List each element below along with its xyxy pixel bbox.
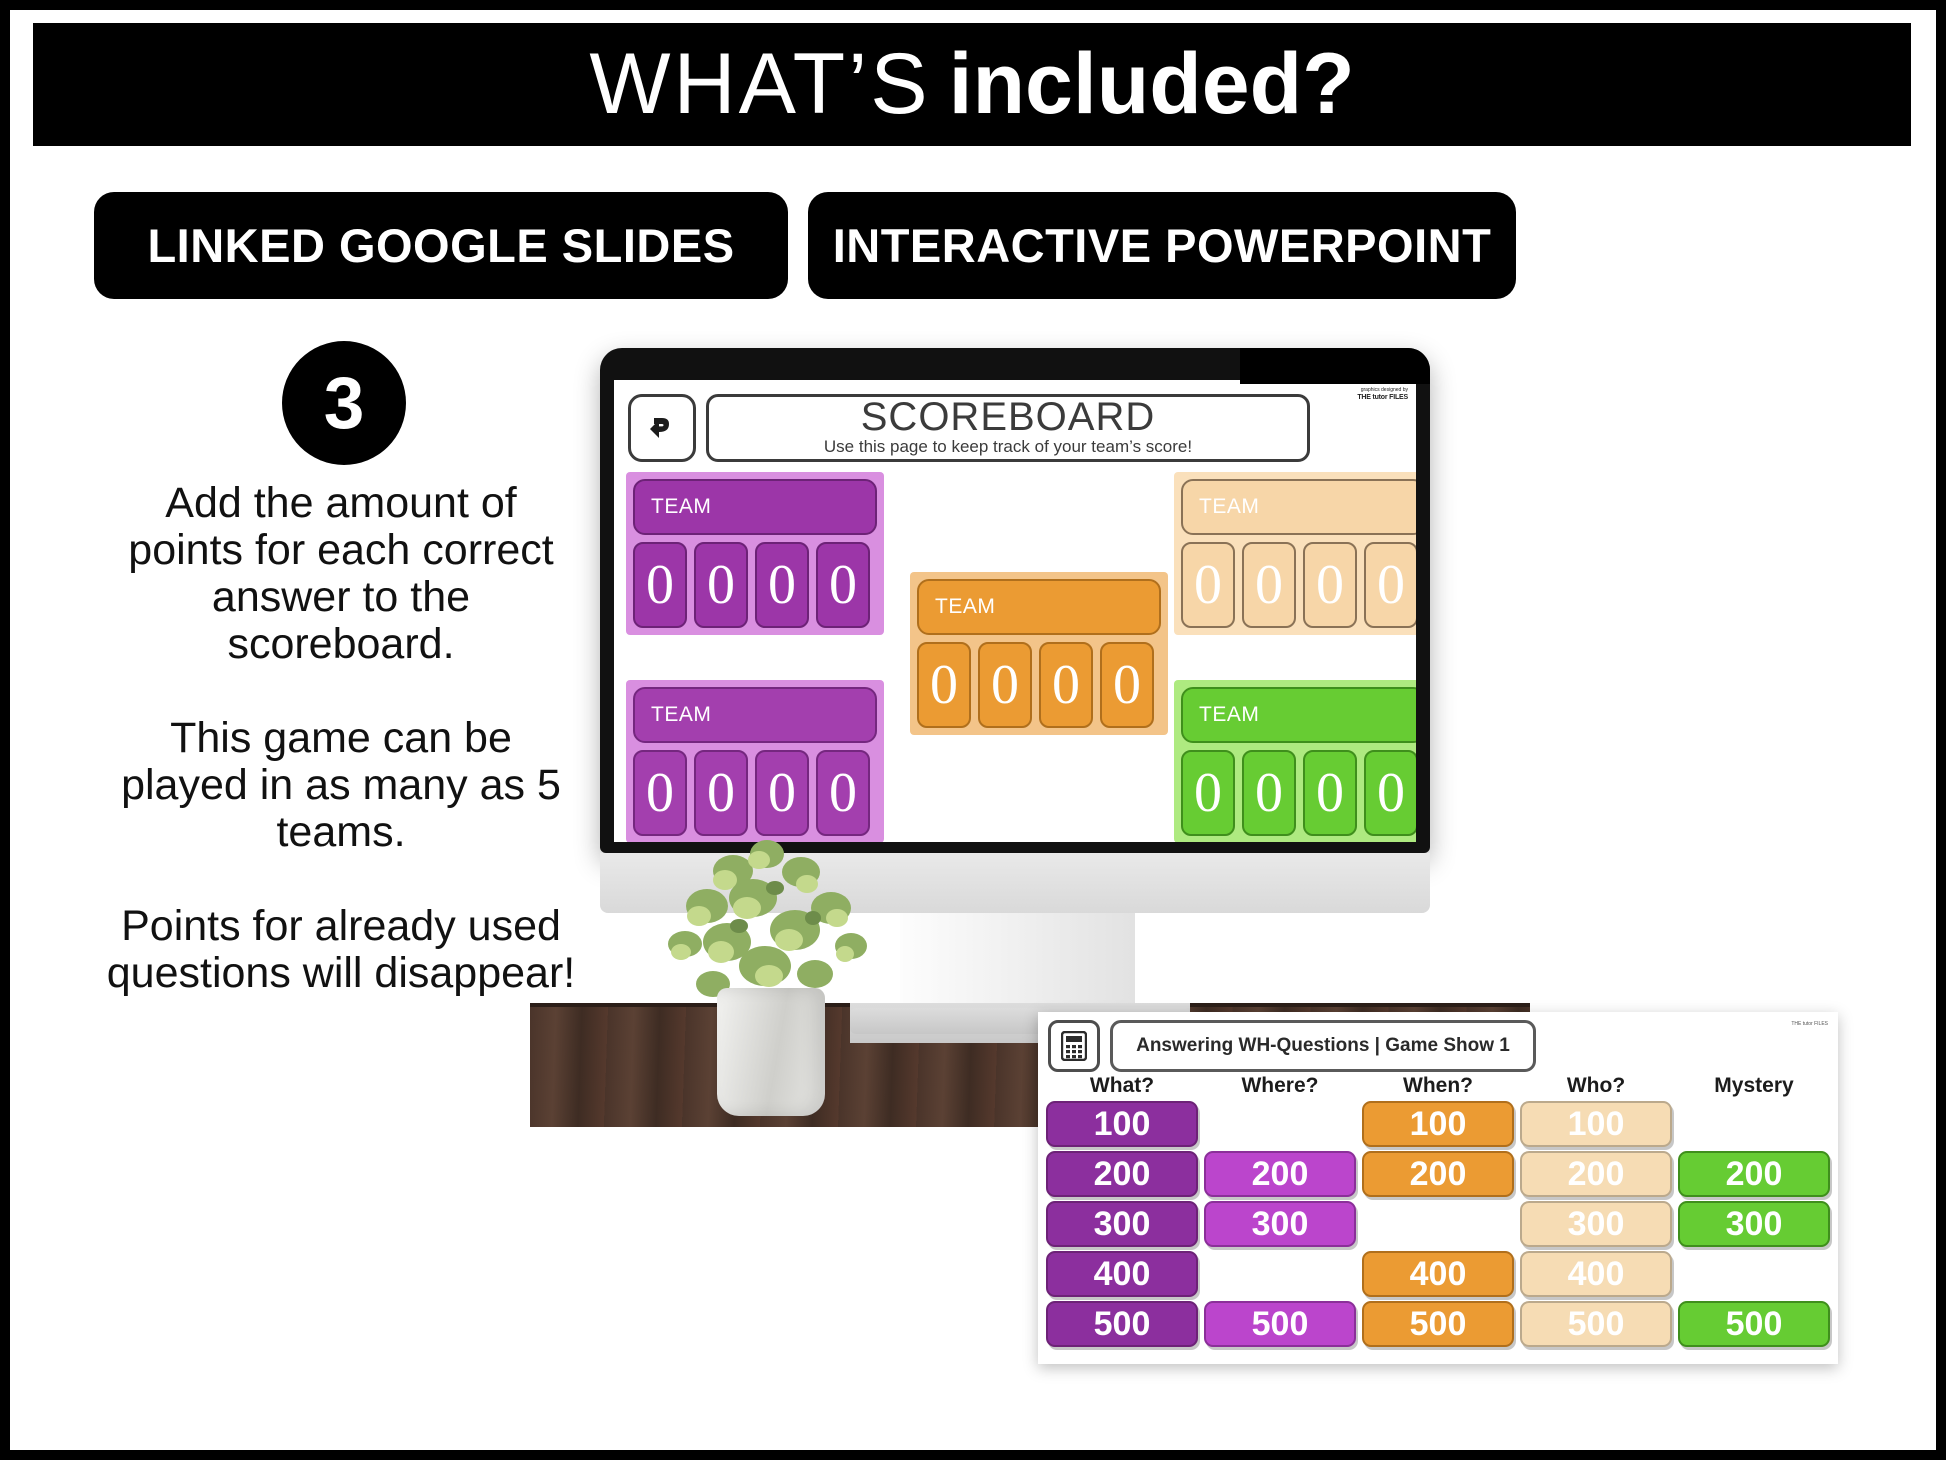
team-panel[interactable]: TEAM 0 0 0 0 xyxy=(910,572,1168,735)
scoreboard-subtitle: Use this page to keep track of your team… xyxy=(824,437,1192,457)
team-panel[interactable]: TEAM 0 0 0 0 xyxy=(626,680,884,842)
points-tile[interactable]: 500 xyxy=(1204,1301,1356,1347)
team-label: TEAM xyxy=(1181,479,1416,535)
team-panel[interactable]: TEAM 0 0 0 0 xyxy=(1174,680,1416,842)
column-header-mystery: Mystery xyxy=(1678,1074,1830,1101)
column-header-when: When? xyxy=(1362,1074,1514,1101)
game-board-column-headers: What? Where? When? Who? Mystery xyxy=(1038,1074,1838,1101)
team-label: TEAM xyxy=(633,687,877,743)
watermark-line-2: THE tutor FILES xyxy=(1357,394,1408,401)
scoreboard-title: SCOREBOARD xyxy=(861,399,1156,436)
score-digit[interactable]: 0 xyxy=(694,542,748,628)
points-tile[interactable]: 500 xyxy=(1520,1301,1672,1347)
points-tile[interactable]: 100 xyxy=(1362,1101,1514,1147)
step-number: 3 xyxy=(324,362,365,445)
linked-google-slides-label: LINKED GOOGLE SLIDES xyxy=(147,218,734,273)
points-tile[interactable]: 500 xyxy=(1046,1301,1198,1347)
points-tile-empty xyxy=(1204,1101,1356,1143)
column-header-where: Where? xyxy=(1204,1074,1356,1101)
points-tile-empty xyxy=(1204,1251,1356,1293)
page-title: WHAT’S included? xyxy=(589,35,1354,134)
game-board-points-grid: 100 100 100 200 200 200 200 200 300 300 … xyxy=(1038,1101,1838,1347)
score-digit[interactable]: 0 xyxy=(633,750,687,836)
slide-page: WHAT’S included? LINKED GOOGLE SLIDES IN… xyxy=(0,0,1946,1460)
team-panel[interactable]: TEAM 0 0 0 0 xyxy=(1174,472,1416,635)
monitor-mockup: SCOREBOARD Use this page to keep track o… xyxy=(600,348,1460,1088)
instruction-paragraph-2: This game can be played in as many as 5 … xyxy=(106,715,576,856)
score-digit[interactable]: 0 xyxy=(1364,542,1416,628)
column-header-who: Who? xyxy=(1520,1074,1672,1101)
score-digit[interactable]: 0 xyxy=(633,542,687,628)
points-tile[interactable]: 200 xyxy=(1362,1151,1514,1197)
score-digit[interactable]: 0 xyxy=(1181,542,1235,628)
score-digit[interactable]: 0 xyxy=(755,542,809,628)
team-score-digits: 0 0 0 0 xyxy=(917,642,1161,728)
page-title-thin: WHAT’S xyxy=(589,35,930,134)
team-label: TEAM xyxy=(633,479,877,535)
score-digit[interactable]: 0 xyxy=(816,750,870,836)
potted-plant xyxy=(655,826,885,1116)
points-tile[interactable]: 100 xyxy=(1046,1101,1198,1147)
points-tile[interactable]: 400 xyxy=(1520,1251,1672,1297)
team-label: TEAM xyxy=(1181,687,1416,743)
score-digit[interactable]: 0 xyxy=(755,750,809,836)
team-score-digits: 0 0 0 0 xyxy=(633,750,877,836)
points-tile-empty xyxy=(1678,1251,1830,1293)
score-digit[interactable]: 0 xyxy=(1303,542,1357,628)
team-score-digits: 0 0 0 0 xyxy=(1181,750,1416,836)
points-tile[interactable]: 100 xyxy=(1520,1101,1672,1147)
game-board-overlay: Answering WH-Questions | Game Show 1 THE… xyxy=(1038,1012,1838,1364)
points-tile[interactable]: 300 xyxy=(1046,1201,1198,1247)
points-tile[interactable]: 300 xyxy=(1678,1201,1830,1247)
points-tile[interactable]: 300 xyxy=(1204,1201,1356,1247)
instruction-paragraph-3: Points for already used questions will d… xyxy=(106,903,576,997)
points-tile[interactable]: 300 xyxy=(1520,1201,1672,1247)
score-digit[interactable]: 0 xyxy=(1181,750,1235,836)
step-number-badge: 3 xyxy=(282,341,406,465)
points-tile-empty xyxy=(1678,1101,1830,1143)
back-arrow-icon[interactable] xyxy=(628,394,696,462)
interactive-powerpoint-label: INTERACTIVE POWERPOINT xyxy=(833,218,1492,273)
header-banner: WHAT’S included? xyxy=(33,23,1911,146)
scoreboard-watermark: graphics designed by THE tutor FILES xyxy=(1357,388,1408,402)
game-board-watermark: THE tutor FILES xyxy=(1791,1022,1828,1028)
team-score-digits: 0 0 0 0 xyxy=(633,542,877,628)
team-panel[interactable]: TEAM 0 0 0 0 xyxy=(626,472,884,635)
score-digit[interactable]: 0 xyxy=(816,542,870,628)
points-tile-empty xyxy=(1362,1201,1514,1243)
scoreboard-title-box: SCOREBOARD Use this page to keep track o… xyxy=(706,394,1310,462)
points-tile[interactable]: 200 xyxy=(1520,1151,1672,1197)
team-label: TEAM xyxy=(917,579,1161,635)
instruction-paragraph-1: Add the amount of points for each correc… xyxy=(106,480,576,667)
score-digit[interactable]: 0 xyxy=(1039,642,1093,728)
points-tile[interactable]: 400 xyxy=(1046,1251,1198,1297)
monitor-bezel: SCOREBOARD Use this page to keep track o… xyxy=(600,348,1430,853)
score-digit[interactable]: 0 xyxy=(978,642,1032,728)
score-digit[interactable]: 0 xyxy=(1242,750,1296,836)
page-title-bold: included? xyxy=(949,35,1355,134)
points-tile[interactable]: 200 xyxy=(1204,1151,1356,1197)
plant-pot xyxy=(717,988,825,1116)
monitor-screen: SCOREBOARD Use this page to keep track o… xyxy=(614,380,1416,842)
game-board-title: Answering WH-Questions | Game Show 1 xyxy=(1110,1020,1536,1072)
points-tile[interactable]: 200 xyxy=(1678,1151,1830,1197)
linked-google-slides-button[interactable]: LINKED GOOGLE SLIDES xyxy=(94,192,788,299)
team-score-digits: 0 0 0 0 xyxy=(1181,542,1416,628)
points-tile[interactable]: 500 xyxy=(1362,1301,1514,1347)
calculator-icon[interactable] xyxy=(1048,1020,1100,1072)
game-board-toolbar: Answering WH-Questions | Game Show 1 THE… xyxy=(1038,1012,1838,1074)
score-digit[interactable]: 0 xyxy=(1364,750,1416,836)
score-digit[interactable]: 0 xyxy=(1242,542,1296,628)
score-digit[interactable]: 0 xyxy=(917,642,971,728)
points-tile[interactable]: 500 xyxy=(1678,1301,1830,1347)
score-digit[interactable]: 0 xyxy=(1303,750,1357,836)
points-tile[interactable]: 400 xyxy=(1362,1251,1514,1297)
score-digit[interactable]: 0 xyxy=(1100,642,1154,728)
score-digit[interactable]: 0 xyxy=(694,750,748,836)
points-tile[interactable]: 200 xyxy=(1046,1151,1198,1197)
interactive-powerpoint-button[interactable]: INTERACTIVE POWERPOINT xyxy=(808,192,1516,299)
column-header-what: What? xyxy=(1046,1074,1198,1101)
